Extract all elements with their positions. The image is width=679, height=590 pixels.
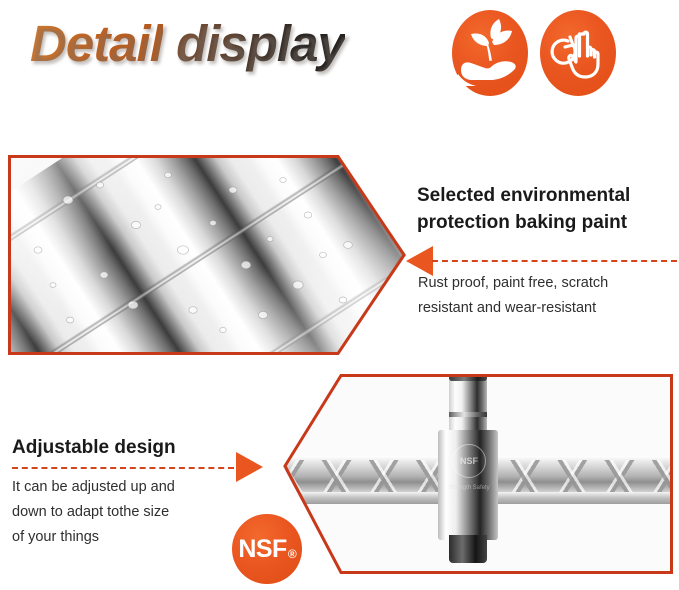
heading-line-2: protection baking paint	[417, 209, 630, 236]
collar-post	[449, 374, 487, 434]
section-heading-adjustable-design: Adjustable design	[12, 434, 176, 461]
click-hand-pointer-icon	[540, 10, 616, 96]
photo-panel-baking-paint	[8, 155, 406, 355]
nsf-certification-badge: NSF®	[232, 514, 302, 584]
photo-chrome-poles	[8, 155, 406, 355]
body-line-2: resistant and wear-resistant	[418, 296, 608, 321]
collar-post-ring	[449, 412, 487, 417]
collar-emboss-text: Strength Safety	[444, 484, 494, 492]
nsf-badge-text: NSF	[238, 537, 287, 562]
section-body-baking-paint: Rust proof, paint free, scratch resistan…	[418, 271, 608, 321]
collar-post-top	[449, 374, 487, 381]
body-line-2: down to adapt tothe size	[12, 500, 175, 525]
page-title: Detail display	[30, 18, 345, 69]
photo-shelf-collar: NSF Strength Safety	[283, 374, 673, 574]
collar-nsf-emboss: NSF	[452, 444, 486, 478]
eco-hand-plant-icon	[452, 10, 528, 96]
page-title-word-display: display	[176, 15, 345, 72]
collar-base	[449, 535, 487, 563]
body-line-1: It can be adjusted up and	[12, 475, 175, 500]
section-heading-baking-paint: Selected environmental protection baking…	[417, 182, 630, 236]
heading-line-1: Selected environmental	[417, 182, 630, 209]
dashed-divider-2	[12, 467, 234, 469]
page-title-word-detail: Detail	[30, 15, 163, 72]
dashed-divider-1	[432, 260, 677, 262]
section-body-adjustable-design: It can be adjusted up and down to adapt …	[12, 475, 175, 550]
body-line-3: of your things	[12, 525, 175, 550]
arrow-right-icon	[236, 452, 263, 482]
body-line-1: Rust proof, paint free, scratch	[418, 271, 608, 296]
photo-panel-adjustable-design: NSF Strength Safety	[283, 374, 673, 574]
registered-mark-icon: ®	[288, 547, 297, 561]
water-droplets	[8, 155, 406, 355]
header-banner: Detail display	[0, 0, 679, 120]
shelf-post-collar: NSF Strength Safety	[438, 374, 498, 574]
